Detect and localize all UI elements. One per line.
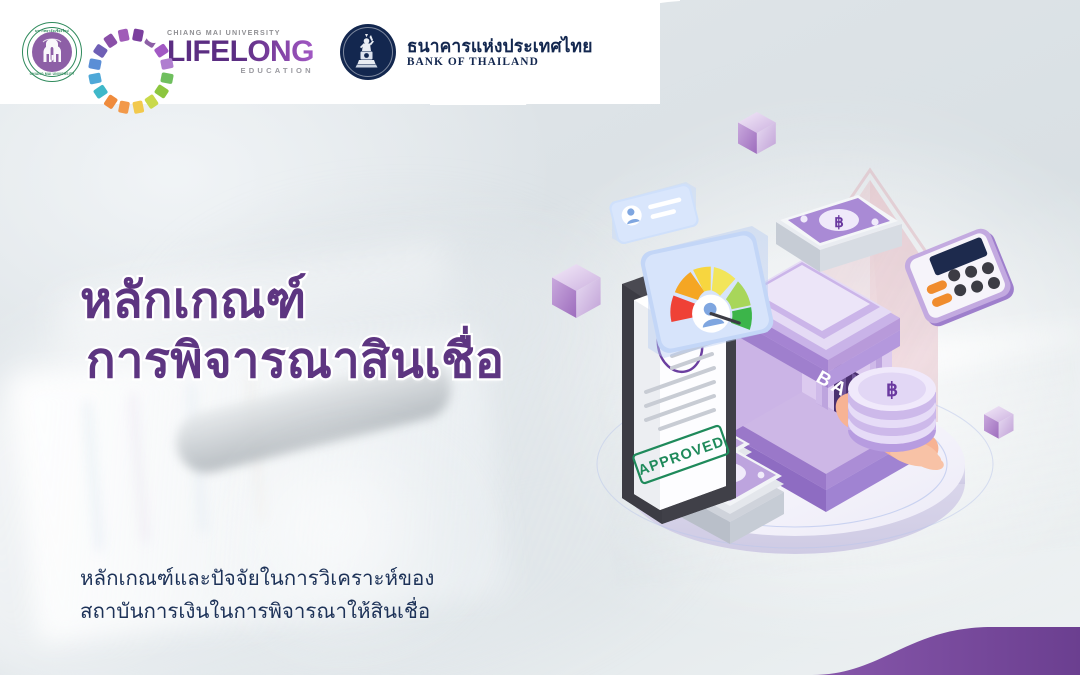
lifelong-ring-segment [93, 84, 109, 99]
floating-cube [552, 264, 601, 318]
title-line-2: การพิจารณาสินเชื่อ [86, 332, 504, 392]
purple-corner-accent [812, 605, 1080, 675]
lifelong-ring-icon [102, 23, 160, 81]
cmu-lifelong-logo: CHIANG MAI UNIVERSITY LIFELONG EDUCATION [102, 23, 314, 81]
seal-top-text: มหาวิทยาลัยเชียงใหม่ [22, 29, 82, 34]
bot-wordmark: ธนาคารแห่งประเทศไทย BANK OF THAILAND [407, 36, 593, 69]
subtitle-line-1: หลักเกณฑ์และปัจจัยในการวิเคราะห์ของ [80, 562, 434, 595]
banknote-symbol: ฿ [834, 214, 844, 231]
lifelong-ring-segment [132, 28, 144, 42]
lifelong-ring-segment [118, 28, 130, 42]
coin-symbol: ฿ [886, 380, 898, 401]
page-subtitle: หลักเกณฑ์และปัจจัยในการวิเคราะห์ของ สถาบ… [80, 562, 434, 628]
seal-disc [32, 32, 72, 72]
floating-cube [984, 406, 1014, 439]
lifelong-ring-segment [88, 58, 102, 70]
bot-thai-name: ธนาคารแห่งประเทศไทย [407, 36, 593, 57]
elephant-icon [35, 35, 69, 69]
partner-logo-row: มหาวิทยาลัยเชียงใหม่ CHIANG MAI UNIVERSI… [22, 0, 593, 104]
bot-english-name: BANK OF THAILAND [407, 56, 593, 68]
coin-stack: ฿ [848, 367, 936, 452]
ring-hole [120, 41, 143, 64]
lifelong-main-text: LIFELONG [167, 38, 314, 66]
bank-of-thailand-logo: ธนาคารแห่งประเทศไทย BANK OF THAILAND [340, 24, 593, 80]
lifelong-ring-segment [118, 100, 130, 114]
lifelong-ring-segment [144, 94, 159, 110]
bot-seal-inner-ring [343, 27, 393, 77]
lifelong-ring-segment [88, 72, 102, 84]
presentation-slide: BANK ฿ [0, 0, 1080, 675]
bot-seal-icon [340, 24, 396, 80]
subtitle-line-2: สถาบันการเงินในการพิจารณาให้สินเชื่อ [80, 595, 434, 628]
seal-bottom-text: CHIANG MAI UNIVERSITY [22, 72, 82, 76]
lifelong-ring-segment [154, 84, 170, 99]
lifelong-wordmark: CHIANG MAI UNIVERSITY LIFELONG EDUCATION [167, 29, 314, 76]
id-card [608, 182, 700, 246]
chiang-mai-university-seal-logo: มหาวิทยาลัยเชียงใหม่ CHIANG MAI UNIVERSI… [22, 22, 82, 82]
lifelong-ring-segment [103, 94, 118, 110]
lifelong-ring-segment [103, 33, 118, 49]
lifelong-ring-segment [160, 72, 174, 84]
ring-notch [146, 27, 162, 43]
floating-cube [738, 112, 776, 154]
loan-approval-illustration: BANK ฿ [540, 92, 1080, 612]
lifelong-ring-segment [93, 43, 109, 58]
lifelong-ring-segment [132, 100, 144, 114]
page-title: หลักเกณฑ์ การพิจารณาสินเชื่อ [80, 272, 504, 392]
title-line-1: หลักเกณฑ์ [80, 272, 504, 332]
